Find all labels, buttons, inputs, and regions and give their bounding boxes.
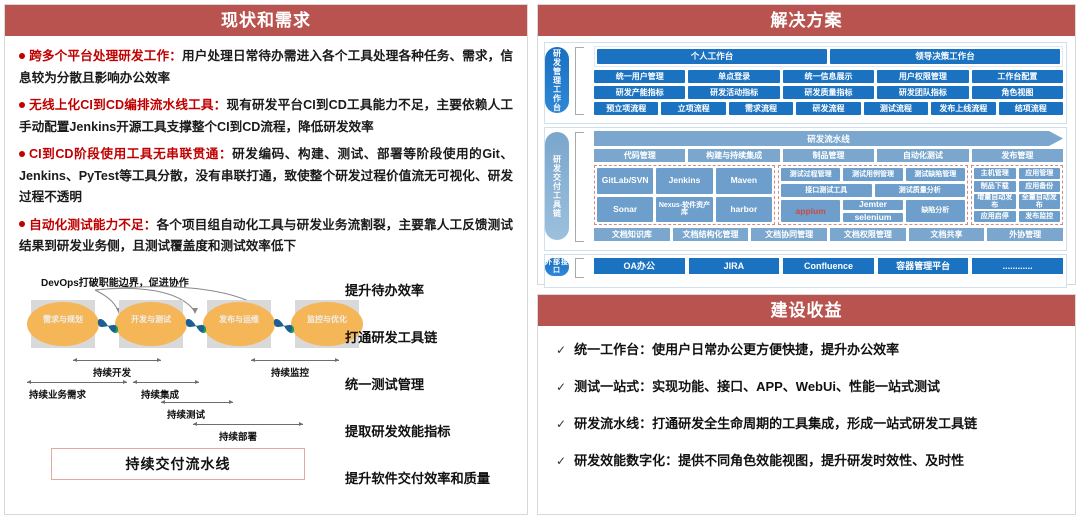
range-line	[27, 382, 127, 383]
check-icon: ✓	[556, 379, 566, 395]
band-management-workbench: 研发管理工作台 个人工作台 领导决策工作台 统一用户管理 单点登录 统一信息展示…	[544, 42, 1067, 124]
arch-box[interactable]: Confluence	[783, 258, 874, 274]
pipeline-stage-row: 代码管理 构建与持续集成 制品管理 自动化测试 发布管理	[594, 149, 1063, 162]
arch-box[interactable]: ............	[972, 258, 1063, 274]
solution-panel: 解决方案 研发管理工作台 个人工作台 领导决策工作台 统一用户管理 单点登录 统…	[537, 4, 1076, 285]
gain-text: 研发效能数字化：提供不同角色效能视图，提升研发时效性、及时性	[574, 453, 964, 469]
workbench-row-2: 研发产能指标 研发活动指标 研发质量指标 研发团队指标 角色视图	[594, 86, 1063, 99]
current-status-title: 现状和需求	[5, 5, 527, 36]
band-delivery-toolchain: 研发交付工具链 研发流水线 代码管理 构建与持续集成 制品管理 自动化测试 发布…	[544, 127, 1067, 251]
arch-box[interactable]: 文档结构化管理	[673, 228, 749, 241]
range-label: 持续业务需求	[29, 387, 86, 401]
range-line	[193, 424, 303, 425]
tool-groups: GitLab/SVN Sonar Jenkins Nexus-软件资产库 Mav…	[594, 165, 1063, 225]
management-workbench-body: 个人工作台 领导决策工作台 统一用户管理 单点登录 统一信息展示 用户权限管理 …	[594, 46, 1063, 115]
stage-2: 开发与测试	[119, 300, 183, 348]
arch-box[interactable]: JIRA	[689, 258, 780, 274]
tool-box[interactable]: harbor	[716, 197, 772, 223]
bullet-key: CI到CD阶段使用工具无串联贯通：	[29, 147, 232, 161]
workbench-row-3: 预立项流程 立项流程 需求流程 研发流程 测试流程 发布上线流程 结项流程	[594, 102, 1063, 115]
arch-box[interactable]: 文档知识库	[594, 228, 670, 241]
tool-box[interactable]: 制品下载	[974, 181, 1016, 192]
gains-list: ✓ 统一工作台：使用户日常办公更方便快捷，提升办公效率 ✓ 测试一站式：实现功能…	[538, 326, 1075, 469]
construction-gains-panel: 建设收益 ✓ 统一工作台：使用户日常办公更方便快捷，提升办公效率 ✓ 测试一站式…	[537, 294, 1076, 515]
infinity-loop-icon	[185, 316, 207, 336]
stage-label: 需求与规划	[27, 314, 99, 325]
arch-box[interactable]: 文档权限管理	[830, 228, 906, 241]
arch-box[interactable]: 自动化测试	[877, 149, 968, 162]
devops-lifecycle-figure: DevOps打破职能边界，促进协作 需求与规划 开发与测试 发布与运维	[15, 272, 517, 487]
check-icon: ✓	[556, 453, 566, 469]
bullet-dot-icon	[19, 102, 25, 108]
side-label-delivery-toolchain: 研发交付工具链	[545, 132, 569, 240]
tool-box[interactable]: GitLab/SVN	[597, 168, 653, 194]
document-row: 文档知识库 文档结构化管理 文档协同管理 文档权限管理 文档共享 外协管理	[594, 228, 1063, 241]
arch-box[interactable]: 领导决策工作台	[830, 49, 1060, 64]
bullet-key: 跨多个平台处理研发工作：	[29, 49, 182, 63]
tool-box[interactable]: 应用启停	[974, 211, 1016, 222]
left-benefits-list: 提升待办效率 打通研发工具链 统一测试管理 提取研发效能指标 提升软件交付效率和…	[345, 280, 535, 515]
stage-label: 开发与测试	[115, 314, 187, 325]
tool-box[interactable]: 应用管理	[1019, 168, 1061, 179]
list-item: ✓ 测试一站式：实现功能、接口、APP、WebUi、性能一站式测试	[556, 379, 1061, 395]
list-item: CI到CD阶段使用工具无串联贯通：研发编码、构建、测试、部署等阶段使用的Git、…	[19, 144, 513, 209]
gain-text: 测试一站式：实现功能、接口、APP、WebUi、性能一站式测试	[574, 379, 940, 395]
list-item: ✓ 研发效能数字化：提供不同角色效能视图，提升研发时效性、及时性	[556, 453, 1061, 469]
range-line	[251, 360, 339, 361]
tool-box[interactable]: 主机管理	[974, 168, 1016, 179]
tool-box[interactable]: selenium	[843, 213, 902, 223]
arch-box[interactable]: 立项流程	[661, 102, 725, 115]
list-item: 统一测试管理	[345, 374, 535, 393]
list-item: 提取研发效能指标	[345, 421, 535, 440]
tool-box[interactable]: Sonar	[597, 197, 653, 223]
tool-box[interactable]: 测试过程管理	[781, 168, 840, 181]
tool-box[interactable]: appium	[781, 200, 840, 222]
arch-box[interactable]: 发布管理	[972, 149, 1063, 162]
arch-box[interactable]: 研发团队指标	[877, 86, 968, 99]
gain-text: 研发流水线：打通研发全生命周期的工具集成，形成一站式研发工具链	[574, 416, 977, 432]
tool-box[interactable]: 测试缺陷管理	[906, 168, 965, 181]
workbench-top-row: 个人工作台 领导决策工作台	[594, 46, 1063, 67]
bullet-dot-icon	[19, 53, 25, 59]
range-label: 持续监控	[271, 365, 309, 379]
pipeline-arrow: 研发流水线	[594, 131, 1063, 146]
infinity-loop-icon	[273, 316, 295, 336]
side-label-management-workbench: 研发管理工作台	[545, 47, 569, 113]
arch-box[interactable]: 文档协同管理	[751, 228, 827, 241]
tool-box[interactable]: 接口测试工具	[781, 184, 872, 197]
brace-icon	[575, 132, 584, 242]
arch-box[interactable]: 工作台配置	[972, 70, 1063, 83]
infinity-loop-icon	[97, 316, 119, 336]
construction-gains-title: 建设收益	[538, 295, 1075, 326]
external-interface-body: OA办公 JIRA Confluence 容器管理平台 ............	[594, 258, 1063, 274]
stage-1: 需求与规划	[31, 300, 95, 348]
list-item: ✓ 研发流水线：打通研发全生命周期的工具集成，形成一站式研发工具链	[556, 416, 1061, 432]
arch-box[interactable]: OA办公	[594, 258, 685, 274]
range-label: 持续集成	[141, 387, 179, 401]
arch-box[interactable]: 个人工作台	[597, 49, 827, 64]
arch-box[interactable]: 需求流程	[729, 102, 793, 115]
tool-box[interactable]: 测试用例管理	[843, 168, 902, 181]
stage-3: 发布与运维	[207, 300, 271, 348]
arch-box[interactable]: 文档共享	[909, 228, 985, 241]
range-line	[161, 402, 233, 403]
range-label: 持续部署	[219, 429, 257, 443]
arch-box[interactable]: 统一用户管理	[594, 70, 685, 83]
range-line	[133, 382, 199, 383]
list-item: 打通研发工具链	[345, 327, 535, 346]
workbench-row-1: 统一用户管理 单点登录 统一信息展示 用户权限管理 工作台配置	[594, 70, 1063, 83]
arch-box[interactable]: 外协管理	[987, 228, 1063, 241]
arch-box[interactable]: 代码管理	[594, 149, 685, 162]
list-item: 提升软件交付效率和质量	[345, 468, 535, 487]
arch-box[interactable]: 研发活动指标	[688, 86, 779, 99]
band-external-interface: 外部接口 OA办公 JIRA Confluence 容器管理平台 .......…	[544, 254, 1067, 288]
bullet-key: 无线上化CI到CD编排流水线工具：	[29, 98, 226, 112]
arch-box[interactable]: 构建与持续集成	[688, 149, 779, 162]
list-item: 跨多个平台处理研发工作：用户处理日常待办需进入各个工具处理各种任务、需求，信息较…	[19, 46, 513, 89]
tool-box[interactable]: 增量自动发布	[974, 194, 1016, 209]
arch-box[interactable]: 容器管理平台	[878, 258, 969, 274]
external-row: OA办公 JIRA Confluence 容器管理平台 ............	[594, 258, 1063, 274]
current-status-panel: 现状和需求 跨多个平台处理研发工作：用户处理日常待办需进入各个工具处理各种任务、…	[4, 4, 528, 515]
brace-icon	[575, 47, 584, 115]
arch-box[interactable]: 发布上线流程	[931, 102, 995, 115]
architecture-diagram: 研发管理工作台 个人工作台 领导决策工作台 统一用户管理 单点登录 统一信息展示…	[538, 36, 1075, 297]
arch-box[interactable]: 研发流程	[796, 102, 860, 115]
arch-box[interactable]: 角色视图	[972, 86, 1063, 99]
tool-box[interactable]: Jenkins	[656, 168, 712, 194]
list-item: 无线上化CI到CD编排流水线工具：现有研发平台CI到CD工具能力不足，主要依赖人…	[19, 95, 513, 138]
range-line	[73, 360, 161, 361]
arch-box[interactable]: 统一信息展示	[783, 70, 874, 83]
continuous-delivery-label: 持续交付流水线	[126, 454, 231, 474]
tool-box[interactable]: Nexus-软件资产库	[656, 197, 712, 223]
check-icon: ✓	[556, 416, 566, 432]
gain-text: 统一工作台：使用户日常办公更方便快捷，提升办公效率	[574, 342, 899, 358]
tool-box[interactable]: 发布监控	[1019, 211, 1061, 222]
arch-box[interactable]: 结项流程	[999, 102, 1063, 115]
arch-box[interactable]: 制品管理	[783, 149, 874, 162]
bullet-key: 自动化测试能力不足：	[29, 218, 157, 232]
tool-group-ops: 主机管理 应用管理 制品下载 应用备份 增量自动发布 全量自动发布	[971, 165, 1063, 225]
tool-box[interactable]: 测试质量分析	[875, 184, 966, 197]
list-item: 自动化测试能力不足：各个项目组自动化工具与研发业务流割裂，主要靠人工反馈测试结果…	[19, 215, 513, 258]
arch-box[interactable]: 预立项流程	[594, 102, 658, 115]
brace-icon	[575, 258, 584, 278]
arch-box[interactable]: 测试流程	[864, 102, 928, 115]
tool-box[interactable]: 全量自动发布	[1019, 194, 1061, 209]
list-item: ✓ 统一工作台：使用户日常办公更方便快捷，提升办公效率	[556, 342, 1061, 358]
stage-label: 发布与运维	[203, 314, 275, 325]
check-icon: ✓	[556, 342, 566, 358]
tool-box[interactable]: Jemter	[843, 200, 902, 210]
bullet-dot-icon	[19, 221, 25, 227]
side-label-external-interface: 外部接口	[545, 258, 569, 276]
slide-canvas: 现状和需求 跨多个平台处理研发工作：用户处理日常待办需进入各个工具处理各种任务、…	[0, 0, 1080, 519]
arch-box[interactable]: 用户权限管理	[877, 70, 968, 83]
range-label: 持续开发	[93, 365, 131, 379]
bullet-dot-icon	[19, 151, 25, 157]
solution-title: 解决方案	[538, 5, 1075, 36]
tool-box[interactable]: 应用备份	[1019, 181, 1061, 192]
continuous-delivery-pipeline-box: 持续交付流水线	[51, 448, 305, 480]
range-label: 持续测试	[167, 407, 205, 421]
arch-box[interactable]: 研发质量指标	[783, 86, 874, 99]
arch-box[interactable]: 单点登录	[688, 70, 779, 83]
tool-box[interactable]: Maven	[716, 168, 772, 194]
arch-box[interactable]: 研发产能指标	[594, 86, 685, 99]
delivery-toolchain-body: 研发流水线 代码管理 构建与持续集成 制品管理 自动化测试 发布管理 GitLa…	[594, 131, 1063, 241]
tool-group-code: GitLab/SVN Sonar Jenkins Nexus-软件资产库 Mav…	[594, 165, 775, 225]
tool-group-test: 测试过程管理 测试用例管理 测试缺陷管理 接口测试工具 测试质量分析 appiu…	[778, 165, 968, 225]
tool-box[interactable]: 缺陷分析	[906, 200, 965, 222]
list-item: 提升待办效率	[345, 280, 535, 299]
current-status-bullet-list: 跨多个平台处理研发工作：用户处理日常待办需进入各个工具处理各种任务、需求，信息较…	[5, 36, 527, 266]
